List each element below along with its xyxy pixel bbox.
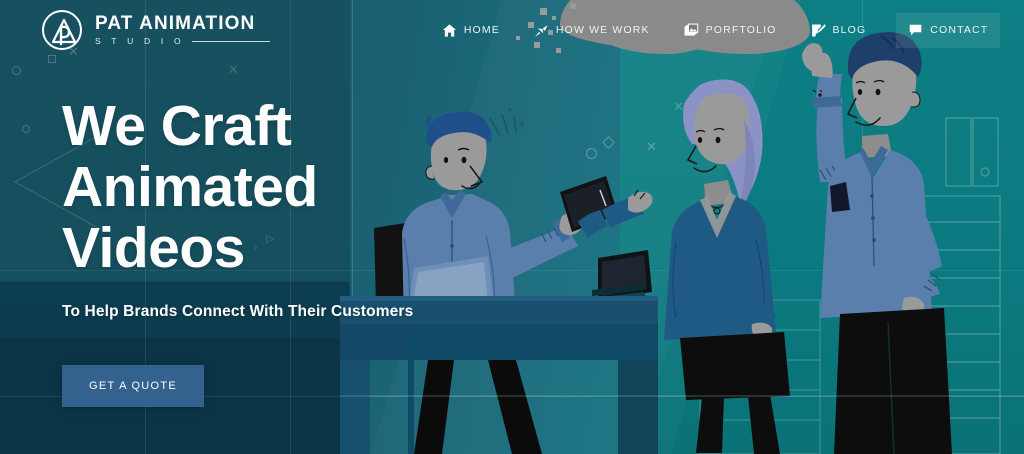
- brand-logo[interactable]: PAT ANIMATION S T U D I O: [42, 10, 270, 50]
- nav-label-home: HOME: [464, 24, 500, 36]
- nav-label-portfolio: PORFTOLIO: [706, 24, 777, 36]
- hero-copy: We Craft Animated Videos To Help Brands …: [62, 96, 413, 407]
- nav-item-how-we-work[interactable]: HOW WE WORK: [530, 17, 654, 44]
- gallery-icon: [684, 23, 699, 38]
- hero-heading: We Craft Animated Videos: [62, 96, 413, 279]
- brand-name: PAT ANIMATION: [95, 14, 270, 33]
- nav-label-how-we-work: HOW WE WORK: [556, 24, 650, 36]
- nav-item-home[interactable]: HOME: [438, 17, 504, 44]
- pin-icon: [534, 23, 549, 38]
- hero-section: ✕ ✕ ✕ ✕ ▷ ›: [0, 0, 1024, 454]
- nav-item-blog[interactable]: BLOG: [807, 17, 871, 44]
- nav-label-contact: CONTACT: [930, 24, 988, 36]
- nav-item-contact[interactable]: CONTACT: [896, 13, 1000, 48]
- main-nav: HOME HOW WE WORK POR: [438, 11, 1024, 50]
- nav-item-portfolio[interactable]: PORFTOLIO: [680, 17, 781, 44]
- hero-heading-line-3: Videos: [62, 218, 413, 279]
- brand-text: PAT ANIMATION S T U D I O: [95, 14, 270, 46]
- pencil-note-icon: [811, 23, 826, 38]
- brand-subtitle: S T U D I O: [95, 37, 185, 46]
- hero-subheading: To Help Brands Connect With Their Custom…: [62, 303, 413, 321]
- get-a-quote-hero-button[interactable]: GET A QUOTE: [62, 365, 204, 407]
- hero-heading-line-2: Animated: [62, 157, 413, 218]
- speech-bubble-icon: [908, 23, 923, 38]
- hero-heading-line-1: We Craft: [62, 96, 413, 157]
- home-icon: [442, 23, 457, 38]
- pa-monogram-circle-icon: [42, 10, 82, 50]
- brand-rule: [192, 41, 270, 42]
- top-navigation-bar: PAT ANIMATION S T U D I O HOME HOW WE WO…: [0, 0, 1024, 60]
- nav-label-blog: BLOG: [833, 24, 867, 36]
